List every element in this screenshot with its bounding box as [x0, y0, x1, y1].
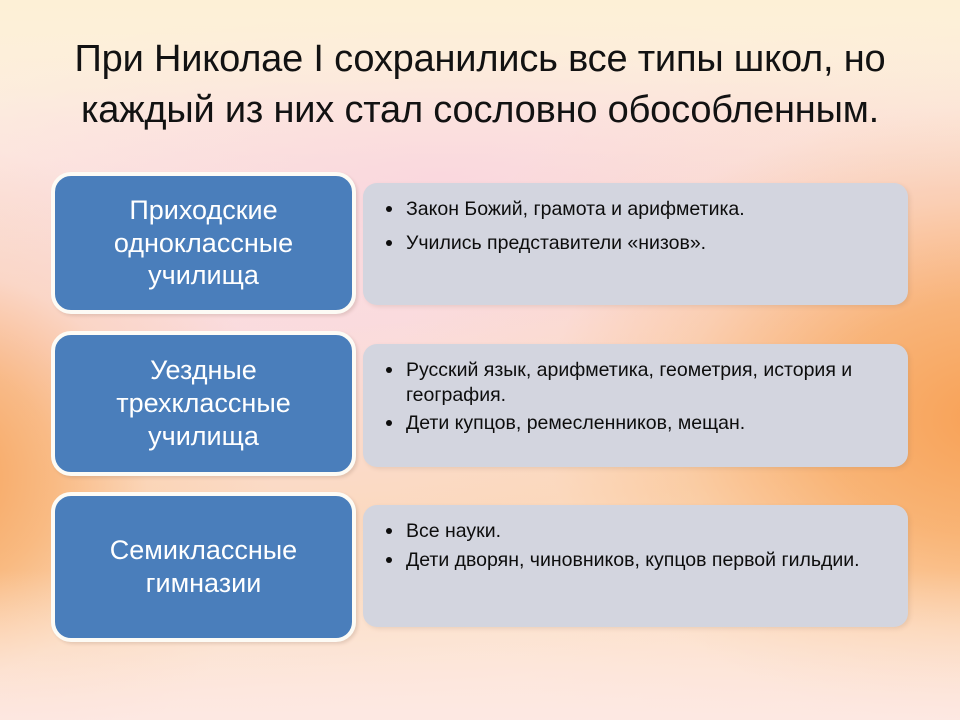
bullet-list: Закон Божий, грамота и арифметика. Учили… [383, 197, 890, 257]
category-label: Семиклассные гимназии [55, 534, 352, 600]
detail-box-gymnasiums[interactable]: Все науки. Дети дворян, чиновников, купц… [363, 505, 908, 627]
category-label: Уездные трехклассные училища [55, 354, 352, 453]
list-item: Закон Божий, грамота и арифметика. [383, 197, 890, 222]
row-parish-schools: Приходские одноклассные училища Закон Бо… [0, 172, 960, 314]
category-box-district-schools[interactable]: Уездные трехклассные училища [51, 331, 356, 476]
bullet-list: Все науки. Дети дворян, чиновников, купц… [383, 519, 890, 574]
slide-title: При Николае I сохранились все типы школ,… [44, 34, 916, 136]
list-item: Все науки. [383, 519, 890, 544]
list-item: Дети дворян, чиновников, купцов первой г… [383, 548, 890, 573]
category-label: Приходские одноклассные училища [55, 194, 352, 293]
list-item: Русский язык, арифметика, геометрия, ист… [383, 358, 890, 409]
detail-box-parish-schools[interactable]: Закон Божий, грамота и арифметика. Учили… [363, 183, 908, 305]
row-gymnasiums: Семиклассные гимназии Все науки. Дети дв… [0, 492, 960, 642]
category-box-gymnasiums[interactable]: Семиклассные гимназии [51, 492, 356, 642]
row-district-schools: Уездные трехклассные училища Русский язы… [0, 331, 960, 476]
list-item: Дети купцов, ремесленников, мещан. [383, 411, 890, 436]
slide-canvas: При Николае I сохранились все типы школ,… [0, 0, 960, 720]
detail-box-district-schools[interactable]: Русский язык, арифметика, геометрия, ист… [363, 344, 908, 467]
list-item: Учились представители «низов». [383, 231, 890, 256]
category-box-parish-schools[interactable]: Приходские одноклассные училища [51, 172, 356, 314]
bullet-list: Русский язык, арифметика, геометрия, ист… [383, 358, 890, 436]
